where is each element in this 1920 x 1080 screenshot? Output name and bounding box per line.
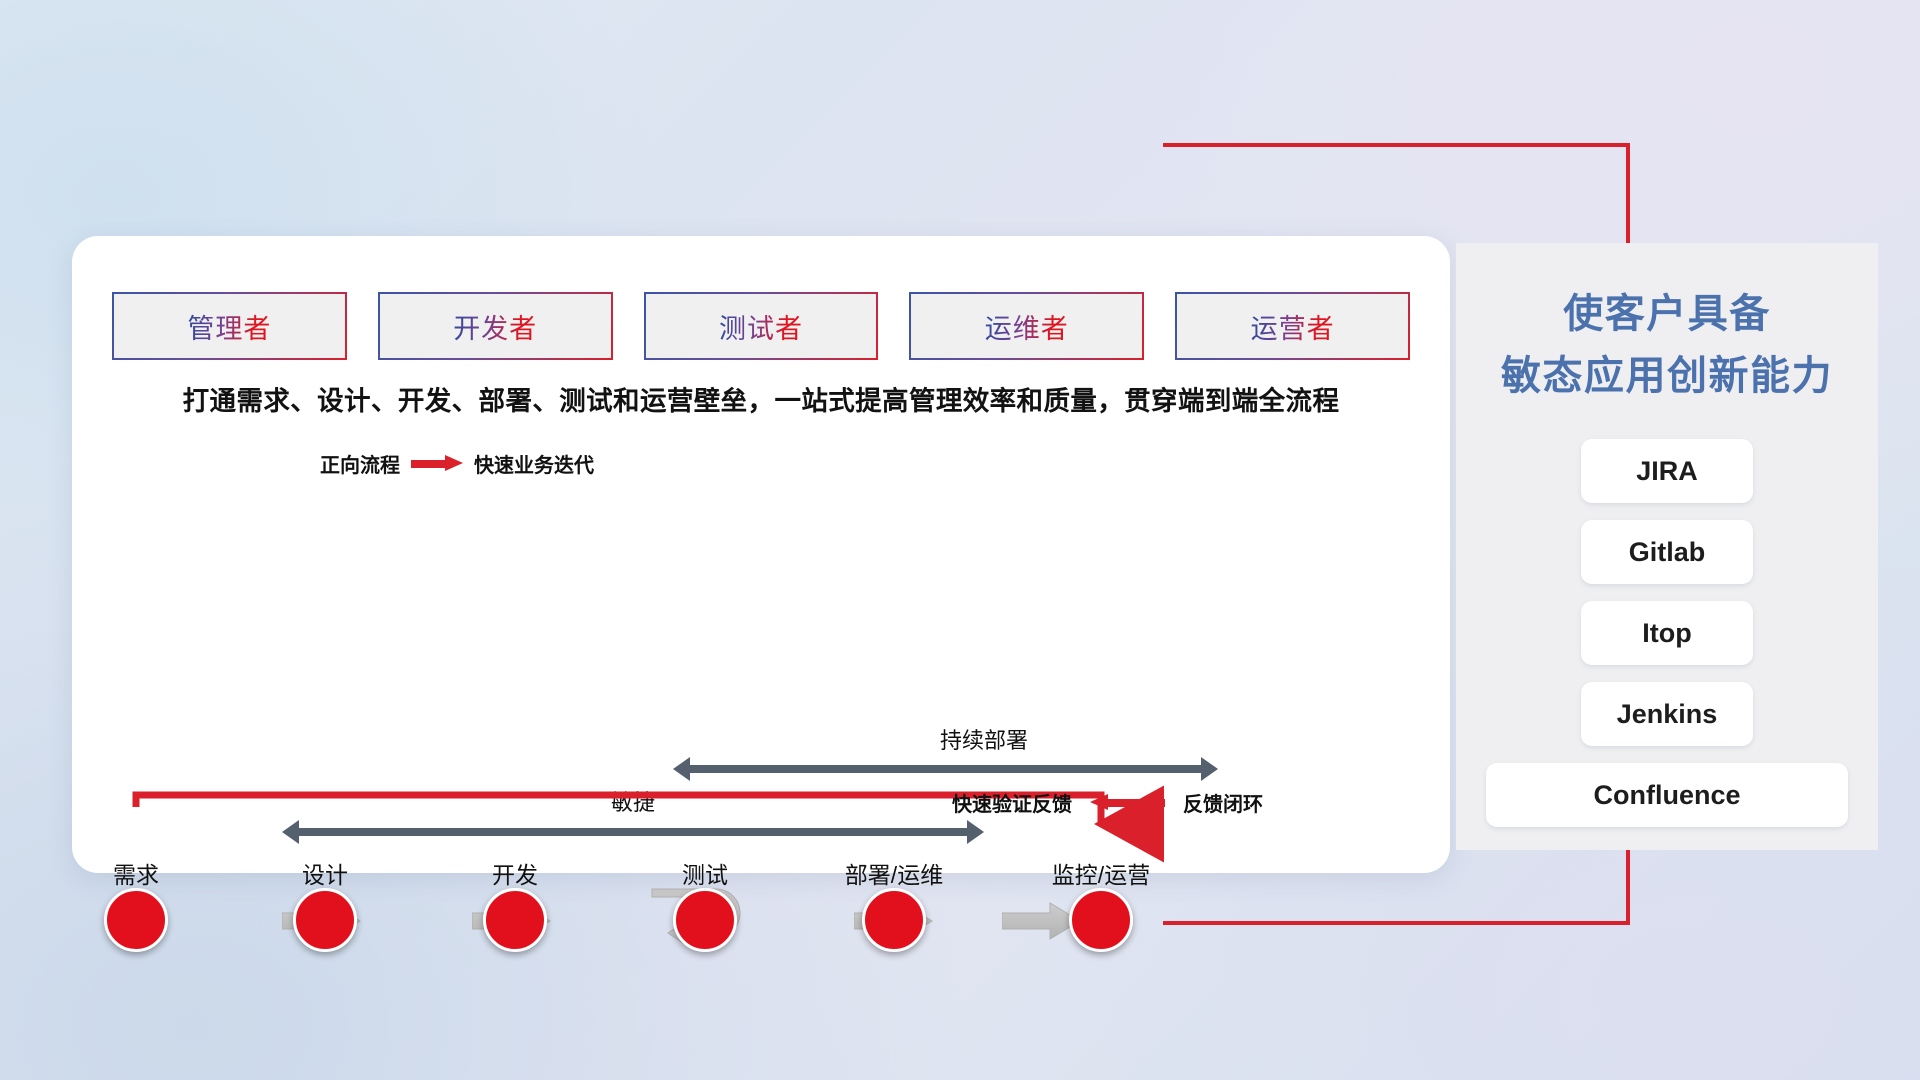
agile-label: 敏捷 [282,785,984,817]
tool-chip-jira[interactable]: JIRA [1581,439,1753,503]
legend-feedback-loop: 快速验证反馈 反馈闭环 [952,788,1263,817]
role-box-developer[interactable]: 开发者 [378,292,613,360]
stage-dot [293,888,357,952]
arrow-bar [688,765,1203,773]
arrow-head-right-icon [967,820,984,844]
role-box-manager[interactable]: 管理者 [112,292,347,360]
tool-chip-confluence[interactable]: Confluence [1486,763,1848,827]
arrow-right-red-icon [411,455,463,472]
role-box-ops[interactable]: 运维者 [909,292,1144,360]
stage-label: 部署/运维 [845,856,943,890]
legend-forward-flow: 正向流程 快速业务迭代 [320,449,594,478]
tool-chip-list: JIRA Gitlab Itop Jenkins Confluence [1486,439,1848,827]
stage-label: 设计 [302,856,348,890]
main-diagram-card: 管理者 开发者 测试者 运维者 运营者 打通需求、设计、开发、部署、测试和运营壁… [72,236,1450,873]
stage-dot [862,888,926,952]
role-label: 运营者 [1251,307,1335,346]
legend-feedback-right-label: 反馈闭环 [1183,788,1263,817]
stage-label: 需求 [113,856,159,890]
role-label: 运维者 [985,307,1069,346]
tool-chip-itop[interactable]: Itop [1581,601,1753,665]
stage-label: 开发 [492,856,538,890]
role-label: 测试者 [719,307,803,346]
stage-dot [673,888,737,952]
continuous-deployment-label: 持续部署 [940,723,1028,755]
panel-title-line2: 敏态应用创新能力 [1486,345,1848,407]
role-boxes-row: 管理者 开发者 测试者 运维者 运营者 [112,292,1410,360]
arrow-bar [297,828,969,836]
stage-dot [104,888,168,952]
role-label: 开发者 [453,307,537,346]
panel-title-line1: 使客户具备 [1486,283,1848,345]
stage-label: 监控/运营 [1052,856,1150,890]
legend-forward-right-label: 快速业务迭代 [474,449,594,478]
role-label: 管理者 [187,307,271,346]
continuous-deployment-arrow: 持续部署 [673,757,1218,781]
legend-feedback-left-label: 快速验证反馈 [952,788,1072,817]
arrow-head-right-icon [1201,757,1218,781]
stage-dot [483,888,547,952]
value-proposition-panel: 使客户具备 敏态应用创新能力 JIRA Gitlab Itop Jenkins … [1456,243,1878,850]
tool-chip-gitlab[interactable]: Gitlab [1581,520,1753,584]
arrow-left-red-icon [1090,794,1165,811]
legend-forward-left-label: 正向流程 [320,449,400,478]
stage-dot [1069,888,1133,952]
tool-chip-jenkins[interactable]: Jenkins [1581,682,1753,746]
stage-label: 测试 [682,856,728,890]
agile-arrow: 敏捷 [282,820,984,844]
role-box-tester[interactable]: 测试者 [644,292,879,360]
panel-title: 使客户具备 敏态应用创新能力 [1486,283,1848,407]
role-box-operations[interactable]: 运营者 [1175,292,1410,360]
description-text: 打通需求、设计、开发、部署、测试和运营壁垒，一站式提高管理效率和质量，贯穿端到端… [72,379,1450,418]
